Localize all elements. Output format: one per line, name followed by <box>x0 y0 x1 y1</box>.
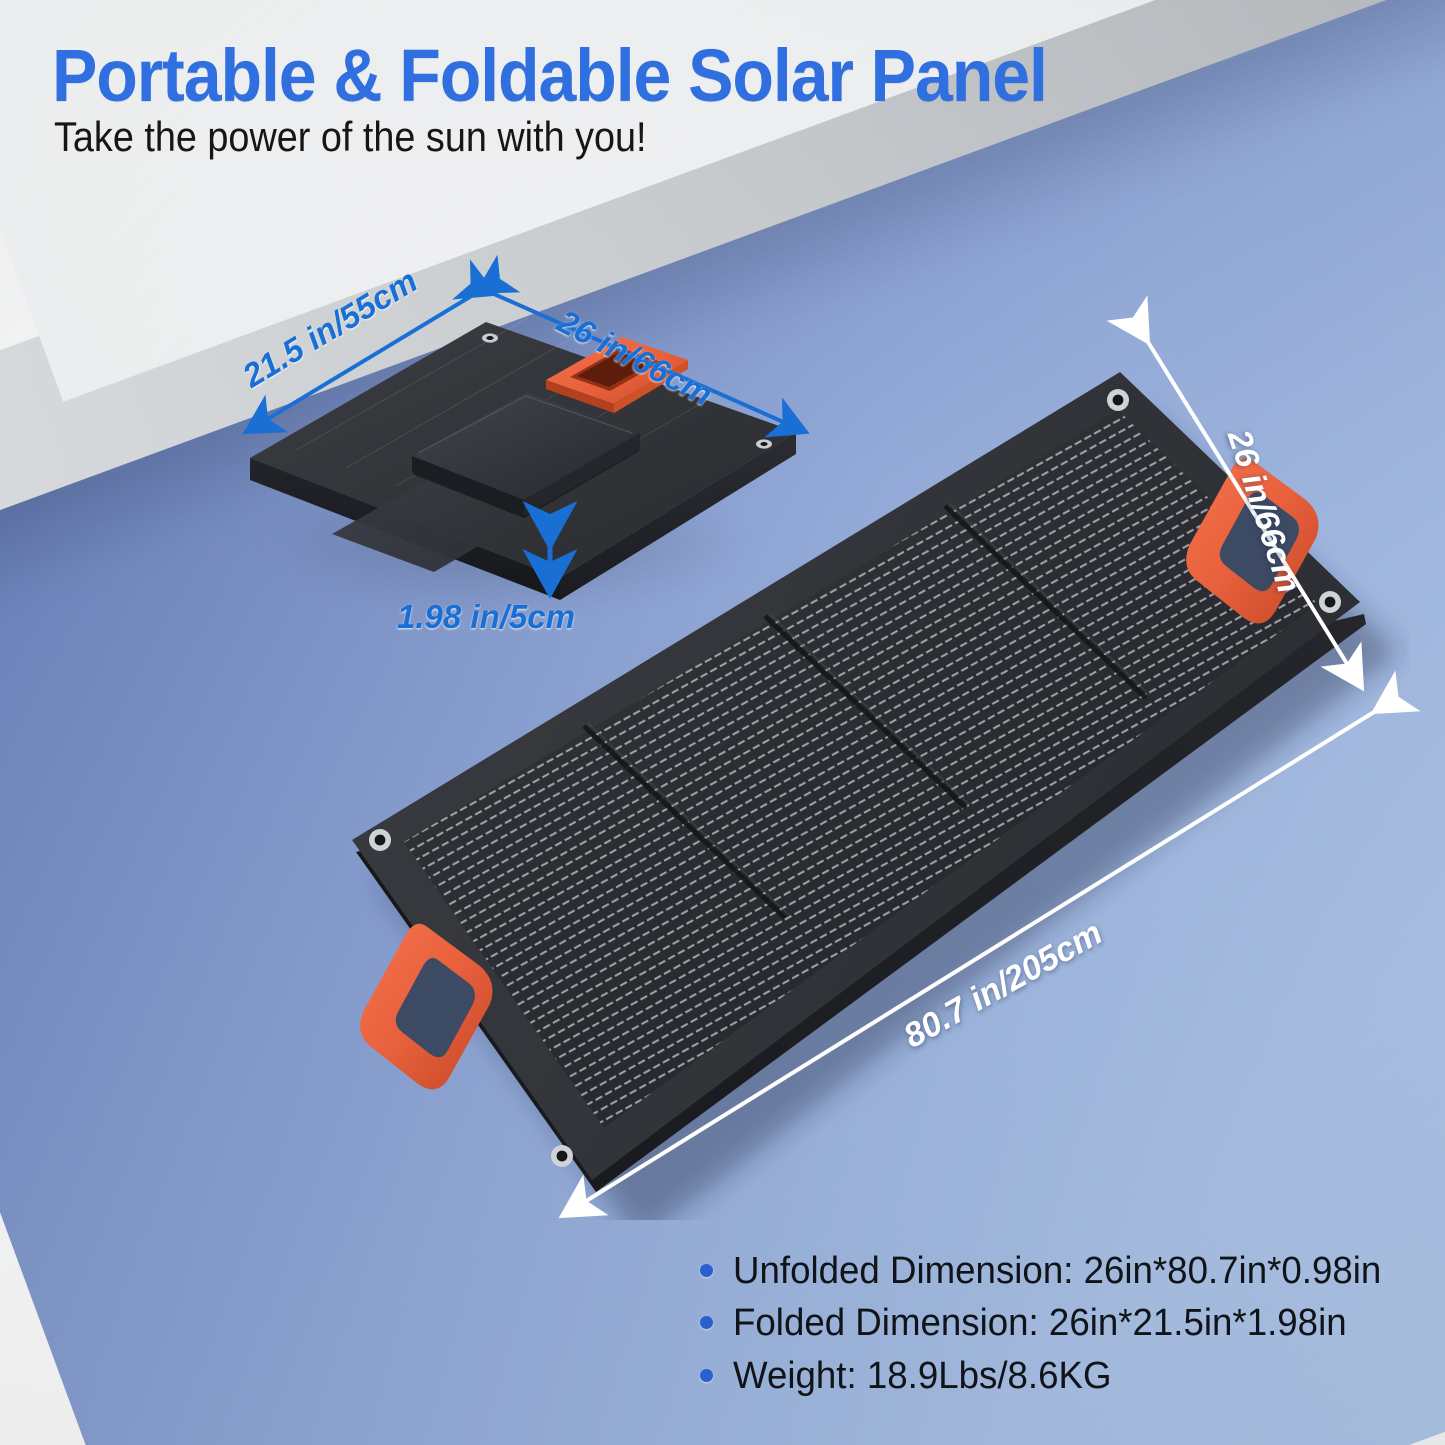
grommet-right <box>1319 591 1341 613</box>
list-item: Weight: 18.9Lbs/8.6KG <box>700 1353 1430 1399</box>
spec-folded-dimension: Folded Dimension: 26in*21.5in*1.98in <box>733 1300 1347 1346</box>
grommet-top <box>1107 389 1129 411</box>
spec-unfolded-dimension: Unfolded Dimension: 26in*80.7in*0.98in <box>733 1248 1381 1294</box>
bullet-dot-icon <box>700 1316 713 1329</box>
grommet-bottom <box>551 1145 573 1167</box>
dim-label-folded-thickness: 1.98 in/5cm <box>397 598 575 636</box>
spec-list: Unfolded Dimension: 26in*80.7in*0.98in F… <box>700 1248 1430 1405</box>
list-item: Folded Dimension: 26in*21.5in*1.98in <box>700 1300 1430 1346</box>
bullet-dot-icon <box>700 1369 713 1382</box>
grommet-left <box>369 829 391 851</box>
page-title: Portable & Foldable Solar Panel <box>52 33 1047 118</box>
list-item: Unfolded Dimension: 26in*80.7in*0.98in <box>700 1248 1430 1294</box>
page-subtitle: Take the power of the sun with you! <box>54 113 647 161</box>
bullet-dot-icon <box>700 1264 713 1277</box>
infographic-canvas: Portable & Foldable Solar Panel Take the… <box>0 0 1445 1445</box>
spec-weight: Weight: 18.9Lbs/8.6KG <box>733 1353 1111 1399</box>
